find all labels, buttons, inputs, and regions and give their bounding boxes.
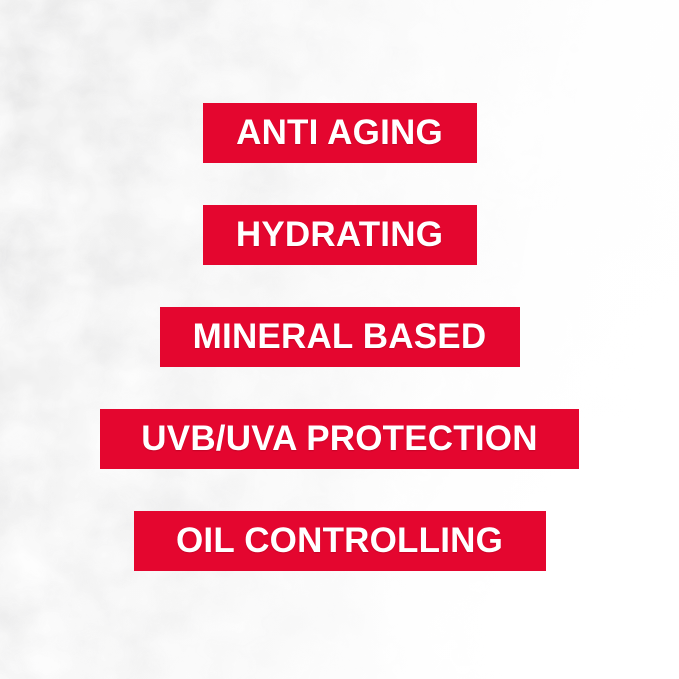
benefit-bar-oil-controlling: OIL CONTROLLING [134,511,546,571]
benefit-label: MINERAL BASED [193,319,487,354]
benefit-label: UVB/UVA PROTECTION [141,421,537,456]
benefit-bar-list: ANTI AGING HYDRATING MINERAL BASED UVB/U… [0,0,679,679]
product-benefits-banner: ANTI AGING HYDRATING MINERAL BASED UVB/U… [0,0,679,679]
benefit-label: ANTI AGING [236,115,443,150]
benefit-bar-uvb-uva-protection: UVB/UVA PROTECTION [100,409,579,469]
benefit-label: HYDRATING [236,217,443,252]
benefit-bar-mineral-based: MINERAL BASED [160,307,520,367]
benefit-bar-anti-aging: ANTI AGING [203,103,477,163]
benefit-bar-hydrating: HYDRATING [203,205,477,265]
benefit-label: OIL CONTROLLING [176,523,503,558]
